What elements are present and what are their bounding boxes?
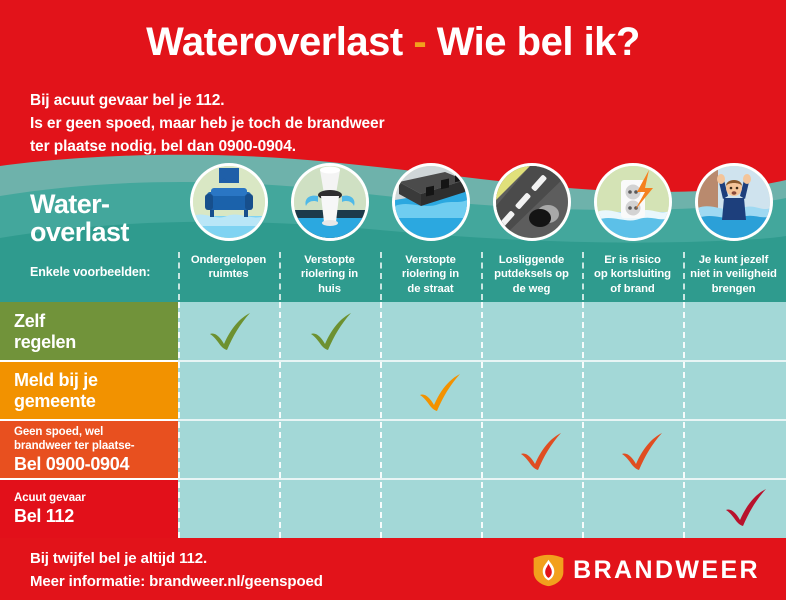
- page-title-main: Wateroverlast: [146, 20, 403, 64]
- row-label-acuut-gevaar-line-1: Acuut gevaar: [14, 491, 164, 505]
- footer: Bij twijfel bel je altijd 112. Meer info…: [0, 538, 786, 600]
- page-title-dash: -: [413, 20, 426, 64]
- row-label-geen-spoed-line-1: Geen spoed, wel: [14, 425, 164, 439]
- intro-line-2: Is er geen spoed, maar heb je toch de br…: [30, 113, 385, 136]
- loose-manhole-cover-icon: [493, 163, 571, 241]
- column-icon-0: [190, 163, 268, 241]
- column-header-2: Verstopte riolering in de straat: [380, 253, 481, 296]
- section-title-line-2: overlast: [30, 218, 129, 246]
- cell-divider-1: [279, 302, 281, 538]
- brandweer-logo: BRANDWEER: [532, 554, 760, 587]
- column-header-5-line-1: Je kunt jezelf: [683, 253, 784, 267]
- header-divider-5: [683, 252, 685, 300]
- row-label-acuut-gevaar: Acuut gevaar Bel 112: [0, 479, 178, 538]
- page-title: Wateroverlast - Wie bel ik?: [0, 22, 786, 62]
- row-separator-left-1: [0, 419, 178, 421]
- header-divider-3: [481, 252, 483, 300]
- matrix-table: Zelf regelen Meld bij je gemeente Geen s…: [0, 302, 786, 538]
- column-header-3-line-1: Losliggende: [481, 253, 582, 267]
- row-label-zelf-regelen-line-1: Zelf: [14, 311, 164, 332]
- check-zelf-regelen-ondergelopen-ruimtes: [207, 312, 253, 352]
- check-geen-spoed-kortsluiting: [619, 432, 665, 472]
- footer-text: Bij twijfel bel je altijd 112. Meer info…: [30, 548, 323, 593]
- header-divider-0: [178, 252, 180, 300]
- person-in-water-icon: [695, 163, 773, 241]
- column-header-4-line-1: Er is risico: [582, 253, 683, 267]
- brandweer-flame-shield-icon: [532, 554, 565, 587]
- table-row-geen-spoed: Geen spoed, wel brandweer ter plaatse- B…: [0, 420, 786, 479]
- header-divider-2: [380, 252, 382, 300]
- section-title: Water- overlast: [30, 190, 129, 246]
- cell-divider-0: [178, 302, 180, 538]
- table-row-meld-bij-je-gemeente: Meld bij je gemeente: [0, 361, 786, 420]
- cell-divider-2: [380, 302, 382, 538]
- column-header-1-line-2: riolering in: [279, 267, 380, 281]
- column-icon-2: [392, 163, 470, 241]
- column-header-3-line-3: de weg: [481, 282, 582, 296]
- check-acuut-gevaar-niet-in-veiligheid: [723, 488, 769, 528]
- column-header-4: Er is risico op kortsluiting of brand: [582, 253, 683, 296]
- check-zelf-regelen-verstopte-riolering-huis: [308, 312, 354, 352]
- footer-line-2[interactable]: Meer informatie: brandweer.nl/geenspoed: [30, 571, 323, 594]
- row-label-geen-spoed-line-2: brandweer ter plaatse-: [14, 439, 164, 453]
- cell-divider-3: [481, 302, 483, 538]
- column-header-1: Verstopte riolering in huis: [279, 253, 380, 296]
- clogged-street-sewer-icon: [392, 163, 470, 241]
- column-icon-5: [695, 163, 773, 241]
- electrical-short-circuit-icon: [594, 163, 672, 241]
- column-header-5: Je kunt jezelf niet in veiligheid brenge…: [683, 253, 784, 296]
- row-separator-left-0: [0, 360, 178, 362]
- row-label-acuut-gevaar-phone: Bel 112: [14, 507, 164, 527]
- column-header-3-line-2: putdeksels op: [481, 267, 582, 281]
- column-icon-1: [291, 163, 369, 241]
- header-divider-4: [582, 252, 584, 300]
- column-header-2-line-1: Verstopte: [380, 253, 481, 267]
- column-header-0-line-1: Ondergelopen: [178, 253, 279, 267]
- cell-divider-5: [683, 302, 685, 538]
- column-header-0-line-2: ruimtes: [178, 267, 279, 281]
- row-label-zelf-regelen-line-2: regelen: [14, 332, 164, 353]
- column-header-4-line-3: of brand: [582, 282, 683, 296]
- cell-divider-4: [582, 302, 584, 538]
- column-icon-4: [594, 163, 672, 241]
- column-header-3: Losliggende putdeksels op de weg: [481, 253, 582, 296]
- section-title-line-1: Water-: [30, 190, 129, 218]
- intro-text: Bij acuut gevaar bel je 112. Is er geen …: [30, 90, 385, 159]
- row-label-geen-spoed: Geen spoed, wel brandweer ter plaatse- B…: [0, 420, 178, 479]
- column-header-4-line-2: op kortsluiting: [582, 267, 683, 281]
- poster: Wateroverlast - Wie bel ik? Bij acuut ge…: [0, 0, 786, 600]
- row-label-meld-line-2: gemeente: [14, 391, 164, 412]
- column-header-5-line-2: niet in veiligheid: [683, 267, 784, 281]
- column-header-1-line-3: huis: [279, 282, 380, 296]
- header-divider-1: [279, 252, 281, 300]
- check-gemeente-verstopte-riolering-straat: [417, 373, 463, 413]
- flooded-room-icon: [190, 163, 268, 241]
- check-geen-spoed-losliggende-putdeksels: [518, 432, 564, 472]
- table-row-acuut-gevaar: Acuut gevaar Bel 112: [0, 479, 786, 538]
- intro-line-1: Bij acuut gevaar bel je 112.: [30, 90, 385, 113]
- page-title-sub: Wie bel ik?: [437, 20, 640, 64]
- row-label-zelf-regelen: Zelf regelen: [0, 302, 178, 361]
- column-header-0: Ondergelopen ruimtes: [178, 253, 279, 282]
- row-label-geen-spoed-phone: Bel 0900-0904: [14, 455, 164, 475]
- column-header-2-line-3: de straat: [380, 282, 481, 296]
- column-header-5-line-3: brengen: [683, 282, 784, 296]
- brandweer-wordmark: BRANDWEER: [573, 556, 760, 585]
- clogged-toilet-icon: [291, 163, 369, 241]
- footer-line-1: Bij twijfel bel je altijd 112.: [30, 548, 323, 571]
- column-header-1-line-1: Verstopte: [279, 253, 380, 267]
- column-icon-3: [493, 163, 571, 241]
- column-header-2-line-2: riolering in: [380, 267, 481, 281]
- row-label-meld-bij-je-gemeente: Meld bij je gemeente: [0, 361, 178, 420]
- row-separator-left-2: [0, 478, 178, 480]
- examples-label: Enkele voorbeelden:: [30, 265, 150, 279]
- table-row-zelf-regelen: Zelf regelen: [0, 302, 786, 361]
- row-label-meld-line-1: Meld bij je: [14, 370, 164, 391]
